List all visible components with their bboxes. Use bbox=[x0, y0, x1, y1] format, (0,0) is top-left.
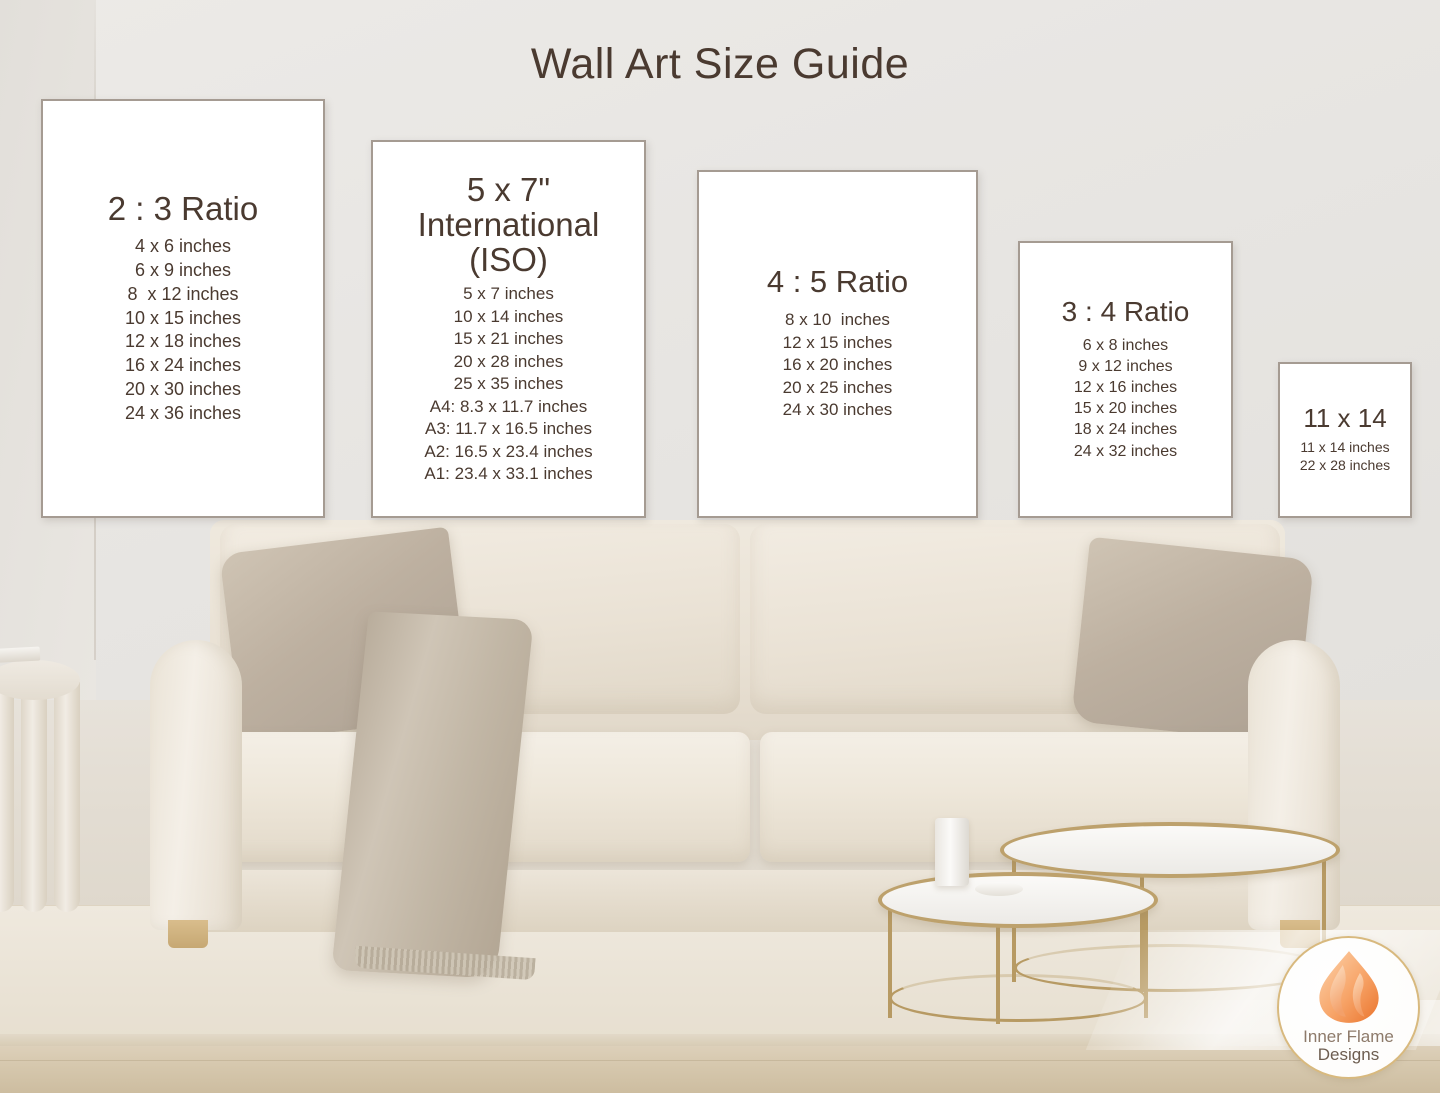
frame-size-item: 24 x 36 inches bbox=[125, 402, 241, 426]
frame-size-item: 12 x 16 inches bbox=[1074, 377, 1177, 398]
frame-title: 2 : 3 Ratio bbox=[108, 192, 258, 227]
frame-title: 11 x 14 bbox=[1303, 405, 1386, 433]
frame-size-item: 24 x 32 inches bbox=[1074, 441, 1177, 462]
frame-size-item: 25 x 35 inches bbox=[424, 373, 592, 395]
frame-size-item: 15 x 21 inches bbox=[424, 328, 592, 350]
frame-size-item: 11 x 14 inches bbox=[1300, 438, 1390, 456]
frame-size-list: 6 x 8 inches9 x 12 inches12 x 16 inches1… bbox=[1074, 335, 1177, 462]
poster-frame-4-5-ratio[interactable]: 4 : 5 Ratio 8 x 10 inches12 x 15 inches1… bbox=[697, 170, 978, 518]
frame-size-list: 11 x 14 inches22 x 28 inches bbox=[1300, 438, 1390, 475]
frame-size-list: 4 x 6 inches6 x 9 inches8 x 12 inches10 … bbox=[125, 235, 241, 425]
frame-size-item: 20 x 30 inches bbox=[125, 378, 241, 402]
frame-size-item: 12 x 15 inches bbox=[783, 332, 893, 354]
frame-size-item: 6 x 9 inches bbox=[125, 259, 241, 283]
frame-size-item: 9 x 12 inches bbox=[1074, 356, 1177, 377]
frame-size-item: 16 x 20 inches bbox=[783, 354, 893, 376]
frame-size-item: 12 x 18 inches bbox=[125, 330, 241, 354]
brand-logo[interactable]: Inner Flame Designs bbox=[1277, 936, 1420, 1079]
frame-title: 3 : 4 Ratio bbox=[1062, 297, 1190, 327]
frame-size-item: 8 x 12 inches bbox=[125, 283, 241, 307]
table-top-marble bbox=[1000, 822, 1340, 878]
frame-size-item: 18 x 24 inches bbox=[1074, 419, 1177, 440]
frame-size-item: 8 x 10 inches bbox=[783, 309, 893, 331]
side-table-leg bbox=[21, 682, 47, 912]
living-room-scene: Wall Art Size Guide 2 : 3 Ratio 4 x 6 in… bbox=[0, 0, 1440, 1093]
wood-floor-strip bbox=[0, 1046, 1440, 1093]
frame-size-item: 6 x 8 inches bbox=[1074, 335, 1177, 356]
frame-size-item: 22 x 28 inches bbox=[1300, 456, 1390, 474]
frame-size-item: 15 x 20 inches bbox=[1074, 398, 1177, 419]
frame-size-list: 8 x 10 inches12 x 15 inches16 x 20 inche… bbox=[783, 309, 893, 421]
frame-size-item: 5 x 7 inches bbox=[424, 283, 592, 305]
frame-title: 5 x 7" International (ISO) bbox=[418, 173, 600, 278]
sofa-foot bbox=[168, 920, 208, 948]
side-table-leg bbox=[54, 682, 80, 912]
frame-size-item: A1: 23.4 x 33.1 inches bbox=[424, 463, 592, 485]
frame-size-item: A4: 8.3 x 11.7 inches bbox=[424, 396, 592, 418]
sofa-arm-left bbox=[150, 640, 242, 930]
frame-title: 4 : 5 Ratio bbox=[767, 266, 908, 299]
frame-size-item: A3: 11.7 x 16.5 inches bbox=[424, 418, 592, 440]
frame-size-item: 20 x 25 inches bbox=[783, 377, 893, 399]
poster-frame-5x7-international-iso[interactable]: 5 x 7" International (ISO) 5 x 7 inches1… bbox=[371, 140, 646, 518]
decorative-dish bbox=[975, 882, 1023, 896]
side-table-legs bbox=[0, 682, 80, 932]
side-table bbox=[0, 660, 80, 930]
logo-line-1: Inner Flame bbox=[1303, 1028, 1394, 1046]
frame-size-item: 10 x 15 inches bbox=[125, 307, 241, 331]
frame-size-item: 20 x 28 inches bbox=[424, 351, 592, 373]
vase bbox=[935, 818, 969, 886]
poster-frame-2-3-ratio[interactable]: 2 : 3 Ratio 4 x 6 inches6 x 9 inches8 x … bbox=[41, 99, 325, 518]
frame-size-list: 5 x 7 inches10 x 14 inches15 x 21 inches… bbox=[424, 283, 592, 485]
frame-size-item: 16 x 24 inches bbox=[125, 354, 241, 378]
table-top-marble bbox=[878, 872, 1158, 928]
logo-line-2: Designs bbox=[1318, 1046, 1379, 1064]
frame-size-item: A2: 16.5 x 23.4 inches bbox=[424, 441, 592, 463]
page-title: Wall Art Size Guide bbox=[0, 40, 1440, 89]
poster-frame-3-4-ratio[interactable]: 3 : 4 Ratio 6 x 8 inches9 x 12 inches12 … bbox=[1018, 241, 1233, 518]
side-table-leg bbox=[0, 682, 14, 912]
flame-icon bbox=[1310, 948, 1388, 1026]
frame-size-item: 10 x 14 inches bbox=[424, 306, 592, 328]
frame-size-item: 24 x 30 inches bbox=[783, 399, 893, 421]
frame-size-item: 4 x 6 inches bbox=[125, 235, 241, 259]
poster-frame-11x14[interactable]: 11 x 14 11 x 14 inches22 x 28 inches bbox=[1278, 362, 1412, 518]
